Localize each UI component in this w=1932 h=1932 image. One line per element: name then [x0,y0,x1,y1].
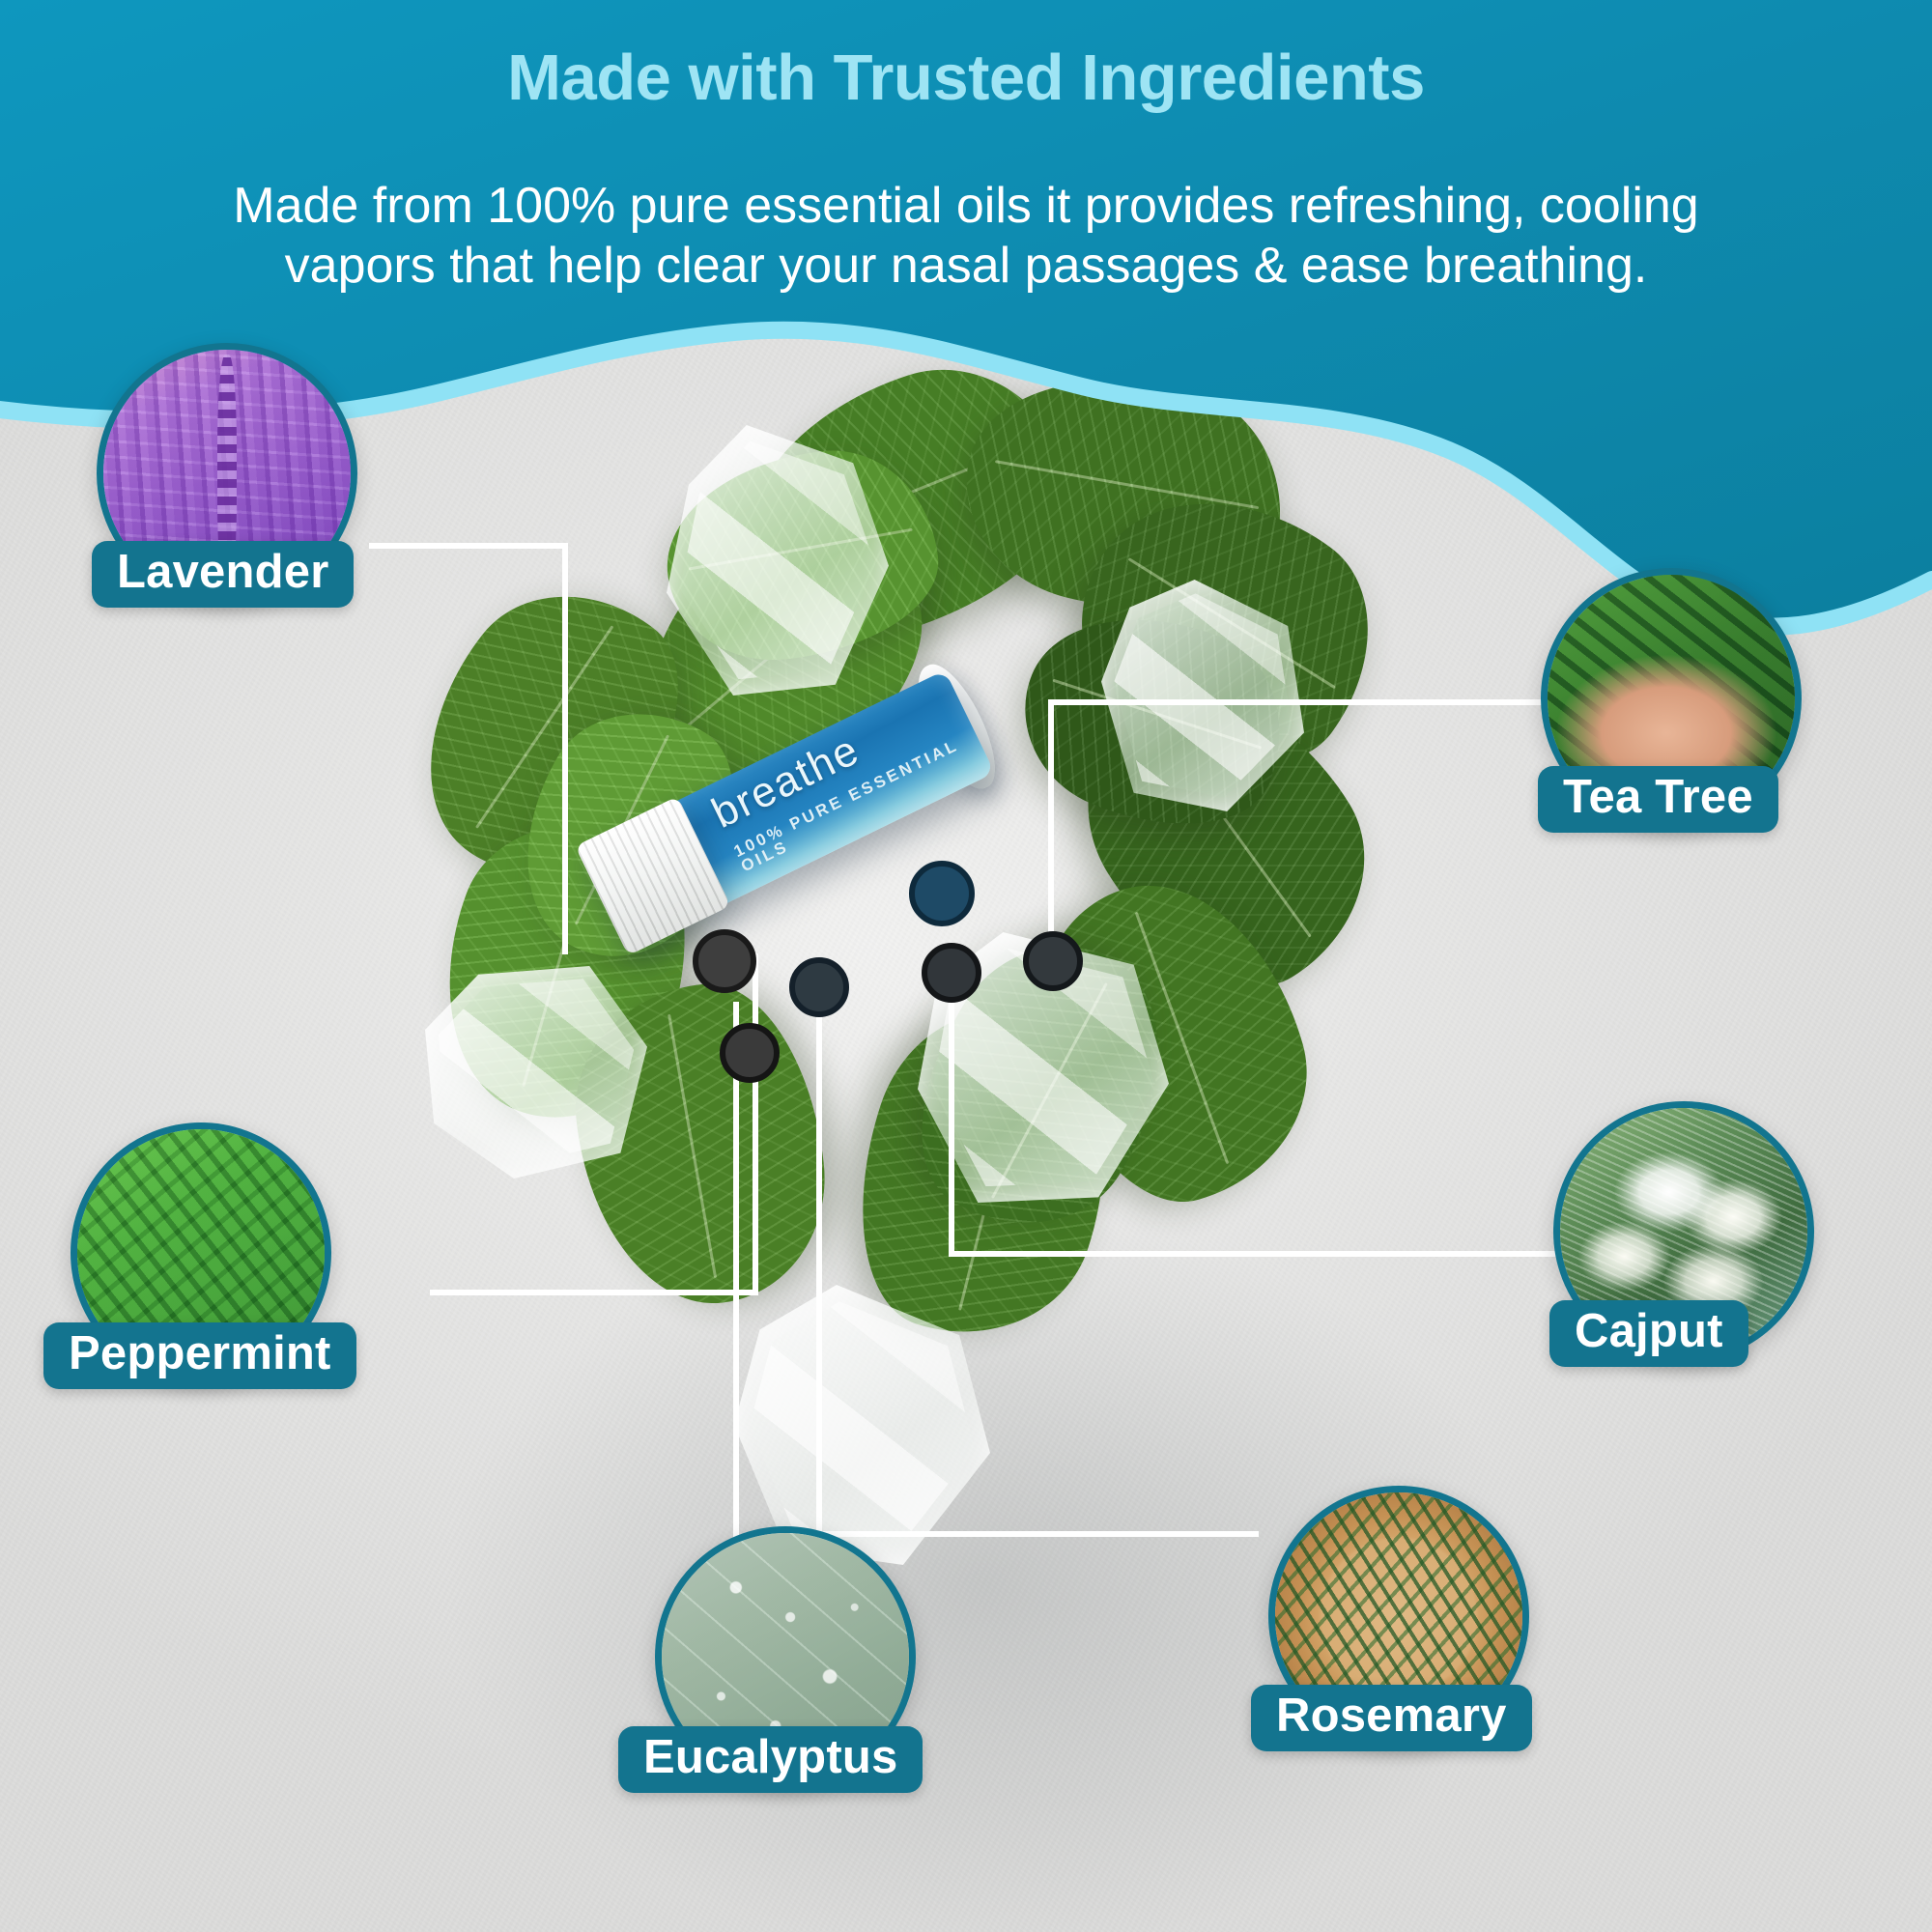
page-title: Made with Trusted Ingredients [0,41,1932,115]
ingredient-label-cajput[interactable]: Cajput [1549,1300,1748,1367]
ingredient-label-lavender[interactable]: Lavender [92,541,354,608]
ingredient-label-tea-tree[interactable]: Tea Tree [1538,766,1778,833]
subtitle-line-2: vapors that help clear your nasal passag… [41,236,1891,296]
ingredient-label-eucalyptus[interactable]: Eucalyptus [618,1726,923,1793]
ingredient-label-rosemary[interactable]: Rosemary [1251,1685,1532,1751]
infographic-stage: breathe 100% PURE ESSENTIAL OILS Made wi… [0,0,1932,1932]
ingredient-label-peppermint[interactable]: Peppermint [43,1322,356,1389]
page-subtitle: Made from 100% pure essential oils it pr… [41,176,1891,297]
subtitle-line-1: Made from 100% pure essential oils it pr… [41,176,1891,236]
